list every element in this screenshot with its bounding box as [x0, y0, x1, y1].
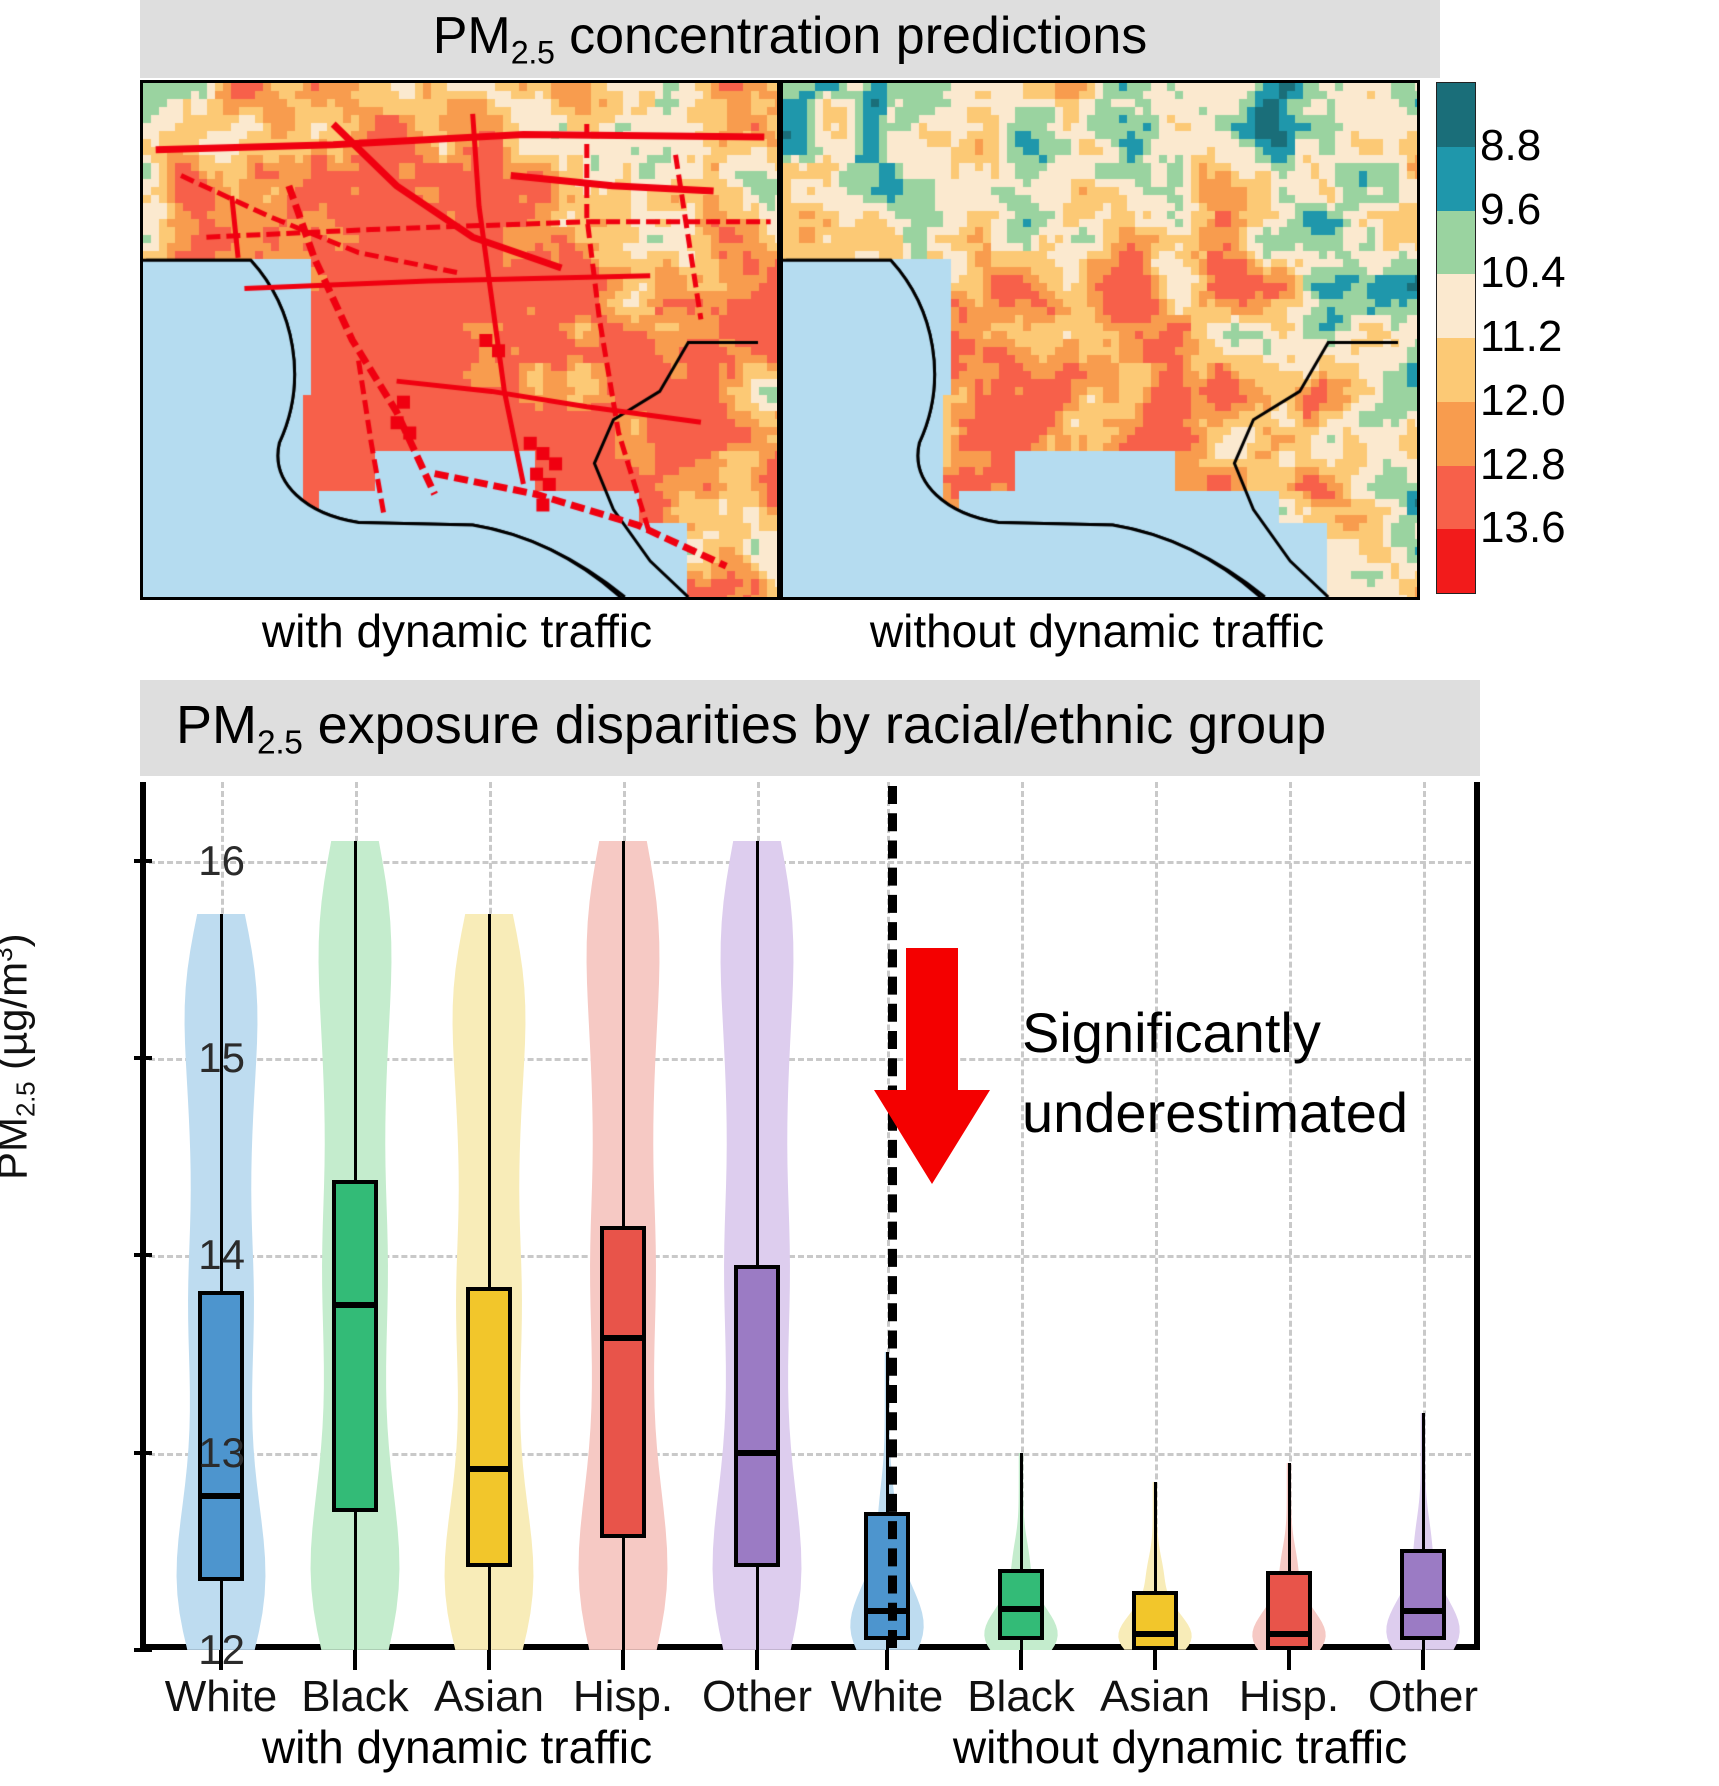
median-line [1400, 1608, 1446, 1614]
plot-canvas [140, 782, 1480, 1650]
x-tick-label-hisp: Hisp. [573, 1672, 673, 1722]
y-axis-label: PM2.5 (µg/m3) [0, 933, 42, 1180]
red-down-arrow-icon [872, 948, 992, 1188]
x-tick-mark [755, 1650, 759, 1670]
ylabel-rest: (µg/m [0, 962, 35, 1082]
violin-panel-title: PM2.5 exposure disparities by racial/eth… [140, 680, 1480, 776]
colorbar-swatch [1437, 274, 1475, 338]
map-caption-left: with dynamic traffic [140, 604, 774, 658]
colorbar [1436, 82, 1476, 594]
colorbar-swatch [1437, 211, 1475, 275]
x-tick-mark [1153, 1650, 1157, 1670]
map-title-subscript: 2.5 [511, 35, 555, 71]
map-without-dynamic-traffic[interactable] [780, 80, 1420, 600]
y-tick-mark [134, 1451, 152, 1455]
violin-title-rest: exposure disparities by racial/ethnic gr… [303, 695, 1327, 755]
colorbar-swatch [1437, 338, 1475, 402]
colorbar-swatch [1437, 466, 1475, 530]
colorbar-tick-label: 10.4 [1480, 248, 1566, 298]
box-plot-box[interactable] [1400, 1549, 1446, 1640]
box-plot-box[interactable] [600, 1226, 646, 1538]
violin-caption-right: without dynamic traffic [953, 1720, 1407, 1774]
colorbar-tick-label: 8.8 [1480, 121, 1541, 171]
x-tick-label-white: White [165, 1672, 277, 1722]
x-tick-label-asian: Asian [434, 1672, 544, 1722]
x-tick-mark [353, 1650, 357, 1670]
median-line [466, 1466, 512, 1472]
median-line [600, 1335, 646, 1341]
box-plot-box[interactable] [864, 1512, 910, 1640]
y-tick-label: 16 [198, 837, 245, 885]
map-caption-right: without dynamic traffic [780, 604, 1414, 658]
x-tick-label-black: Black [967, 1672, 1075, 1722]
colorbar-tick-label: 12.8 [1480, 440, 1566, 490]
x-tick-mark [1421, 1650, 1425, 1670]
y-tick-mark [134, 1253, 152, 1257]
map-title-rest: concentration predictions [555, 7, 1148, 65]
x-tick-mark [487, 1650, 491, 1670]
violin-title-subscript: 2.5 [257, 724, 303, 761]
y-tick-label: 13 [198, 1429, 245, 1477]
x-tick-label-hisp: Hisp. [1239, 1672, 1339, 1722]
x-tick-label-white: White [831, 1672, 943, 1722]
x-tick-mark [885, 1650, 889, 1670]
y-axis-line [140, 782, 146, 1650]
colorbar-swatch [1437, 529, 1475, 593]
ylabel-subscript: 2.5 [11, 1082, 41, 1117]
colorbar-swatch [1437, 147, 1475, 211]
colorbar-swatch [1437, 83, 1475, 147]
violin-title-prefix: PM [176, 695, 257, 755]
annotation-line-2: underestimated [1022, 1080, 1408, 1145]
map-panel-title: PM2.5 concentration predictions [140, 0, 1440, 78]
violin-caption-left: with dynamic traffic [262, 1720, 652, 1774]
colorbar-tick-label: 12.0 [1480, 376, 1566, 426]
median-line [1266, 1631, 1312, 1637]
x-tick-label-black: Black [301, 1672, 409, 1722]
map-with-dynamic-traffic[interactable] [140, 80, 780, 600]
y-tick-mark [134, 1648, 152, 1652]
y-tick-label: 15 [198, 1034, 245, 1082]
panel-divider [888, 786, 897, 1648]
colorbar-swatch [1437, 402, 1475, 466]
box-plot-box[interactable] [1132, 1591, 1178, 1650]
x-tick-mark [219, 1650, 223, 1670]
ylabel-superscript: 3 [0, 947, 18, 961]
box-plot-box[interactable] [734, 1265, 780, 1567]
annotation-line-1: Significantly [1022, 1000, 1321, 1065]
x-tick-label-other: Other [1368, 1672, 1478, 1722]
box-plot-box[interactable] [332, 1180, 378, 1511]
y-tick-mark [134, 1056, 152, 1060]
median-line [734, 1450, 780, 1456]
median-line [332, 1302, 378, 1308]
y-tick-label: 14 [198, 1231, 245, 1279]
colorbar-tick-label: 9.6 [1480, 185, 1541, 235]
ylabel-close: ) [0, 933, 35, 947]
map-title-prefix: PM [433, 7, 511, 65]
median-line [1132, 1631, 1178, 1637]
box-plot-box[interactable] [1266, 1571, 1312, 1650]
y-tick-mark [134, 859, 152, 863]
median-line [998, 1606, 1044, 1612]
x-tick-label-other: Other [702, 1672, 812, 1722]
x-tick-mark [1019, 1650, 1023, 1670]
map-raster-left [143, 83, 777, 597]
median-line [198, 1493, 244, 1499]
colorbar-tick-label: 13.6 [1480, 503, 1566, 553]
map-raster-right [783, 83, 1417, 597]
box-plot-box[interactable] [466, 1287, 512, 1567]
median-line [864, 1608, 910, 1614]
x-tick-label-asian: Asian [1100, 1672, 1210, 1722]
violin-plot-area[interactable] [140, 782, 1480, 1650]
x-tick-mark [621, 1650, 625, 1670]
x-tick-mark [1287, 1650, 1291, 1670]
ylabel-prefix: PM [0, 1117, 35, 1180]
colorbar-tick-label: 11.2 [1480, 312, 1562, 362]
